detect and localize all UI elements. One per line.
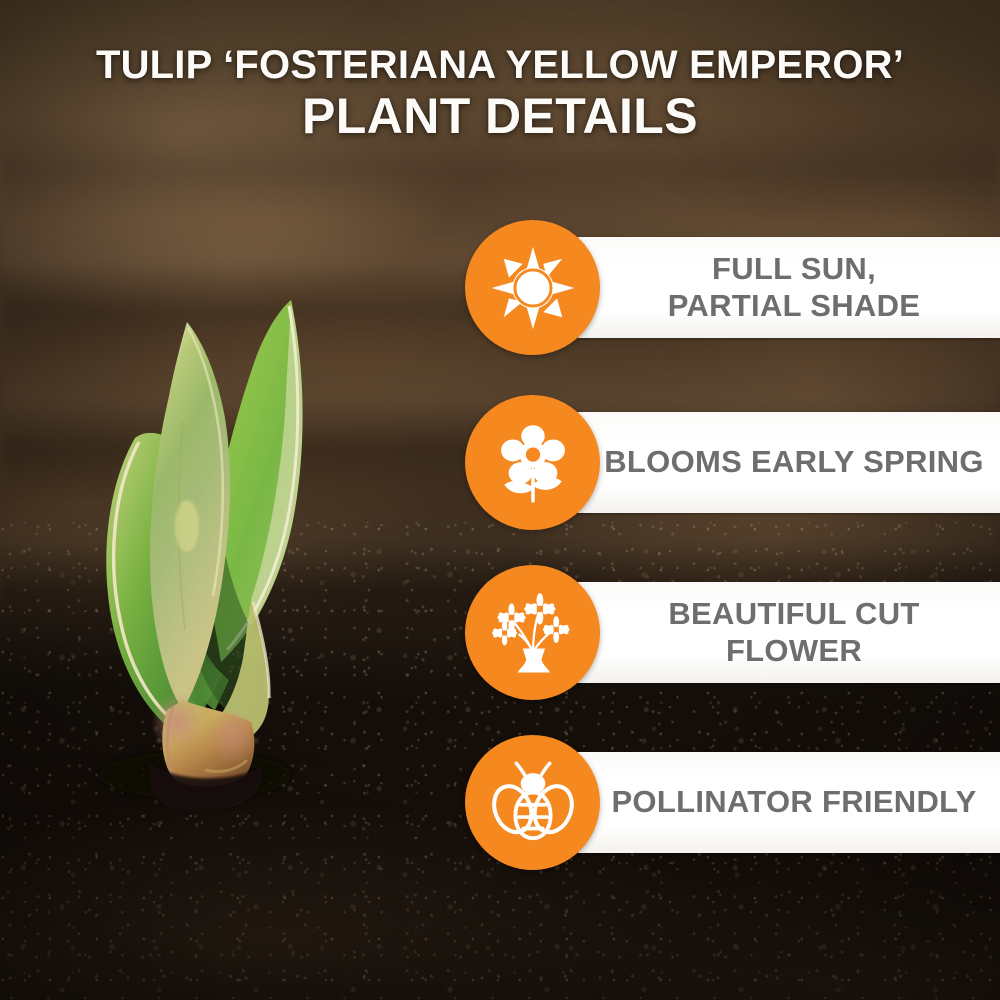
feature-row-blooms-early-spring[interactable]: BLOOMS EARLY SPRING — [465, 395, 1000, 530]
feature-label: BEAUTIFUL CUT FLOWER — [602, 596, 986, 669]
feature-label: FULL SUN, PARTIAL SHADE — [668, 251, 921, 324]
infographic-canvas: TULIP ‘FOSTERIANA YELLOW EMPEROR’ PLANT … — [0, 0, 1000, 1000]
feature-label: BLOOMS EARLY SPRING — [604, 444, 984, 481]
feature-row-pollinator-friendly[interactable]: POLLINATOR FRIENDLY — [465, 735, 1000, 870]
bee-icon — [465, 735, 600, 870]
vase-of-flowers-icon — [465, 565, 600, 700]
feature-list: FULL SUN, PARTIAL SHADE — [0, 0, 1000, 1000]
feature-bar: FULL SUN, PARTIAL SHADE — [578, 237, 1000, 338]
feature-bar: BLOOMS EARLY SPRING — [578, 412, 1000, 513]
feature-label: POLLINATOR FRIENDLY — [611, 784, 976, 821]
feature-bar: BEAUTIFUL CUT FLOWER — [578, 582, 1000, 683]
flower-icon — [465, 395, 600, 530]
feature-row-full-sun[interactable]: FULL SUN, PARTIAL SHADE — [465, 220, 1000, 355]
feature-row-beautiful-cut-flower[interactable]: BEAUTIFUL CUT FLOWER — [465, 565, 1000, 700]
feature-bar: POLLINATOR FRIENDLY — [578, 752, 1000, 853]
sun-icon — [465, 220, 600, 355]
